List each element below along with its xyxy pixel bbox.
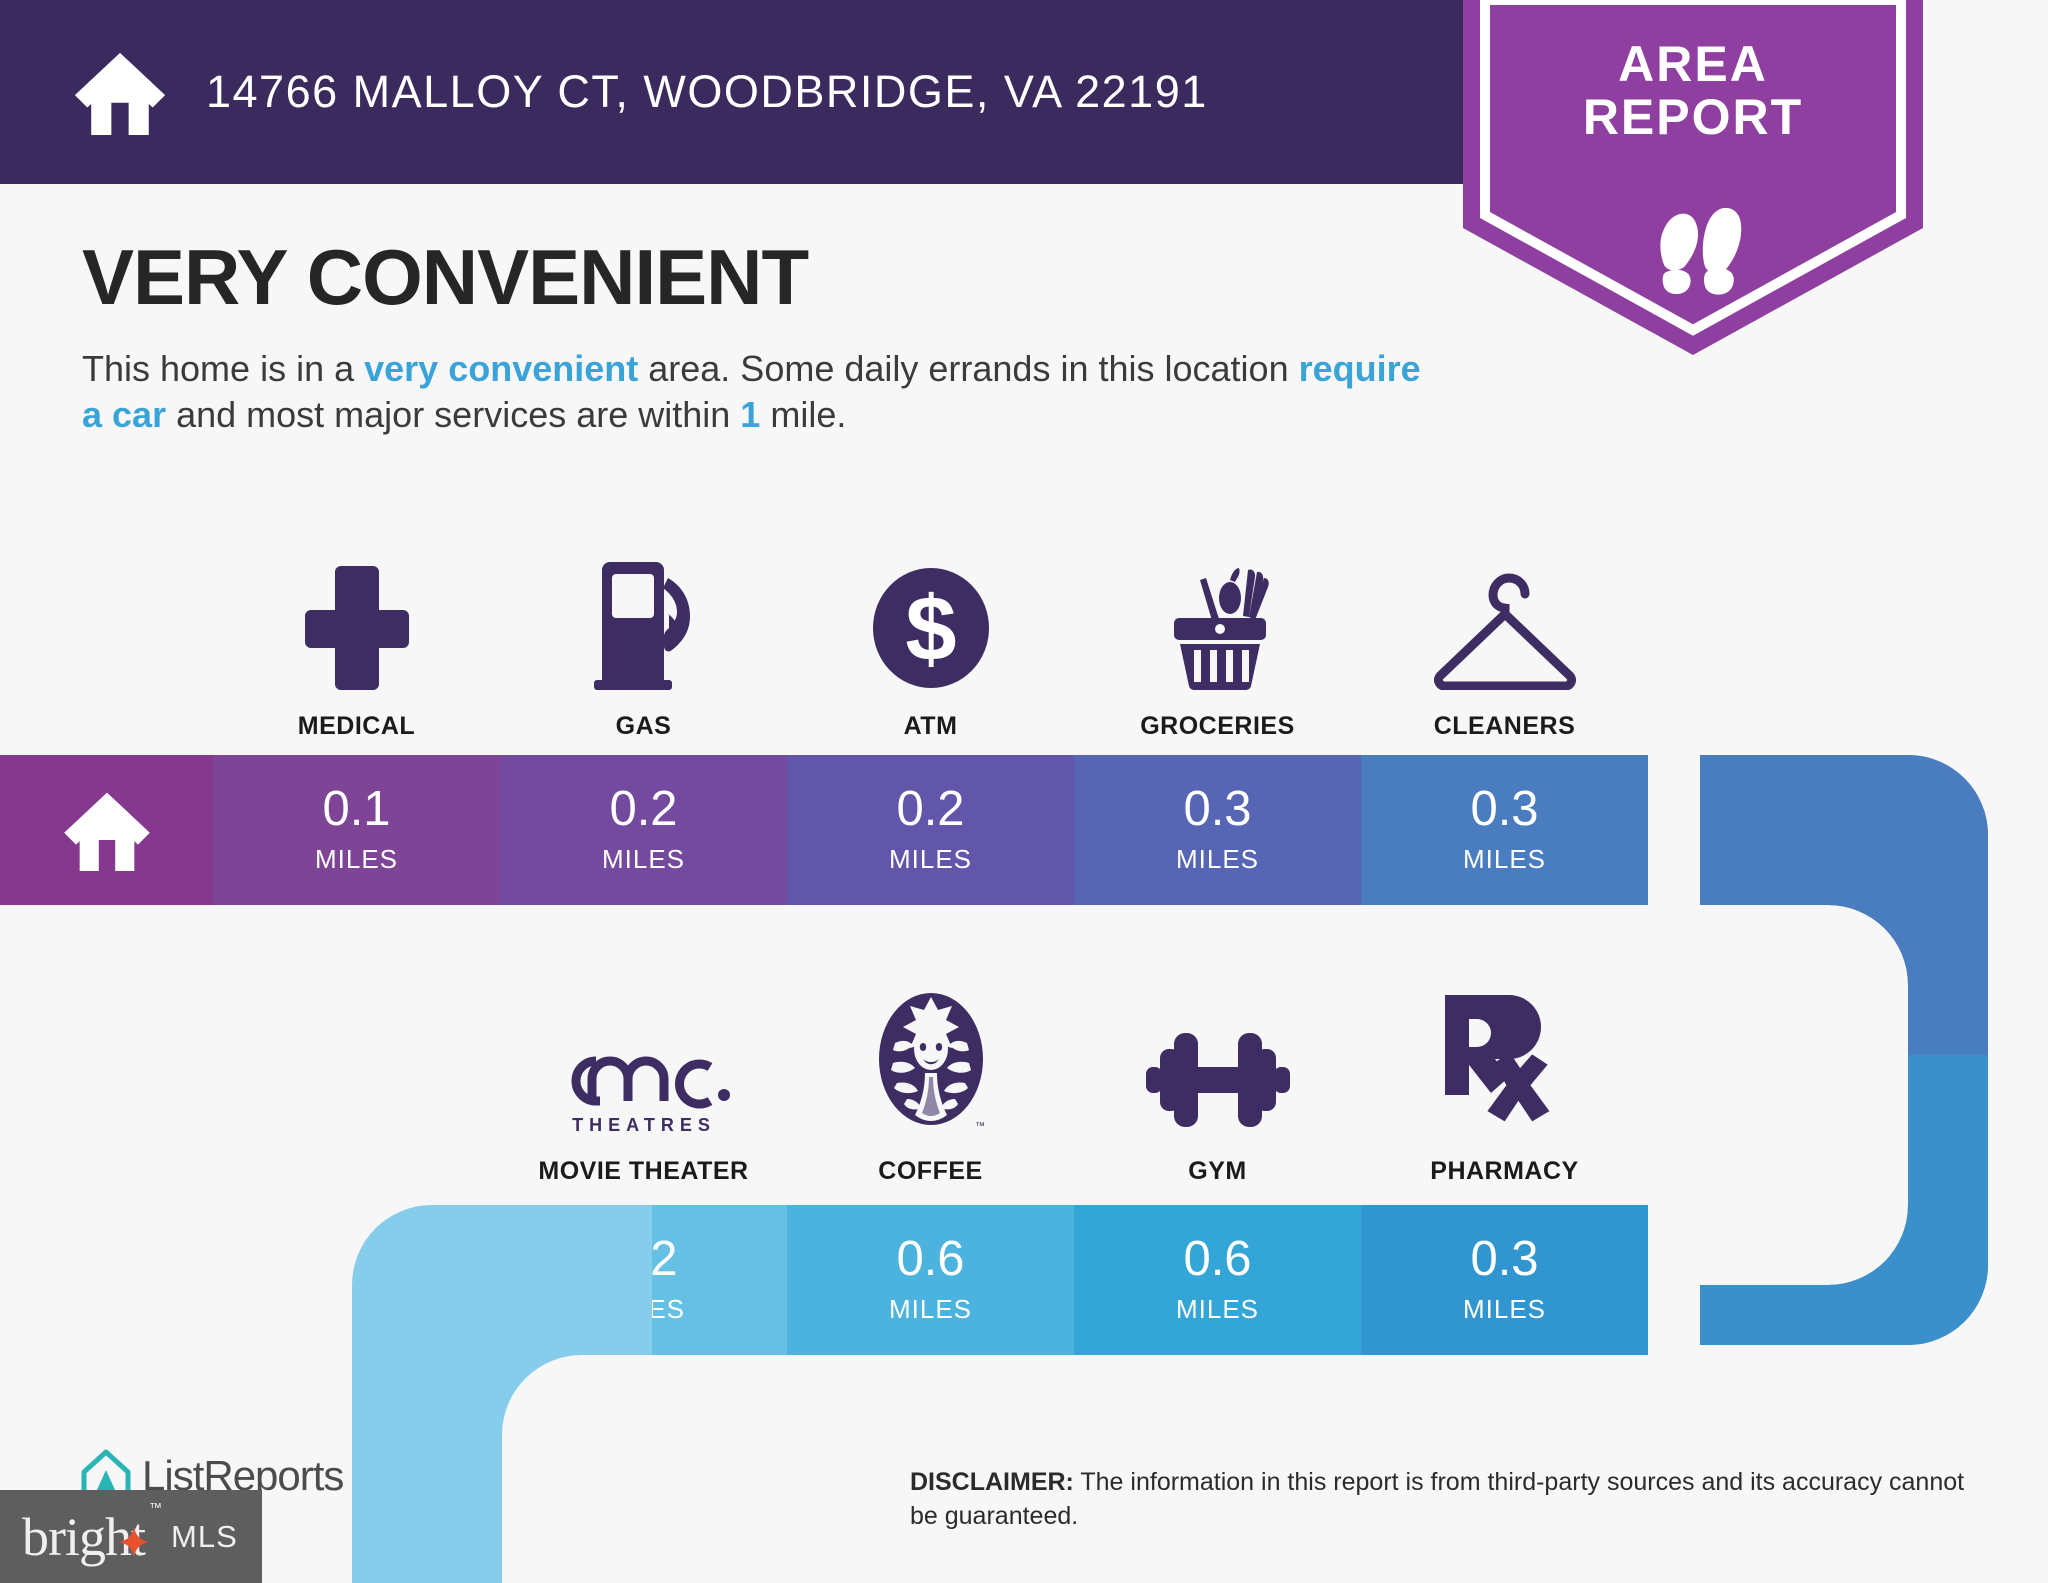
amenity-label: PHARMACY: [1361, 1157, 1648, 1186]
desc-text-4: mile.: [760, 394, 846, 435]
distance-cell-medical: 0.1 MILES: [213, 755, 500, 905]
gas-pump-icon: [500, 540, 787, 690]
bright-mls-watermark: bright ™ MLS: [0, 1490, 262, 1583]
distance-value: 0.6: [1183, 1235, 1251, 1284]
distance-value: 0.2: [896, 785, 964, 834]
amenity-medical: MEDICAL: [213, 540, 500, 741]
distance-cell-groceries: 0.3 MILES: [1074, 755, 1361, 905]
distance-value: 0.3: [1470, 1235, 1538, 1284]
area-report-badge: AREA REPORT: [1463, 0, 1923, 360]
desc-highlight-1: very convenient: [364, 348, 638, 389]
amenity-groceries: GROCERIES: [1074, 540, 1361, 741]
property-address: 14766 MALLOY CT, WOODBRIDGE, VA 22191: [206, 66, 1208, 118]
distance-value: 0.3: [1183, 785, 1251, 834]
distance-value: 0.3: [1470, 785, 1538, 834]
starbucks-icon: ™: [787, 985, 1074, 1135]
amenity-label: GYM: [1074, 1157, 1361, 1186]
distance-bar-row-2: 1.2 MILES 0.6 MILES 0.6 MILES 0.3 MILES: [500, 1205, 1648, 1355]
medical-cross-icon: [213, 540, 500, 690]
trademark-symbol: ™: [149, 1500, 161, 1515]
hero-description: This home is in a very convenient area. …: [82, 346, 1442, 438]
amenity-label: ATM: [787, 712, 1074, 741]
distance-cell-gas: 0.2 MILES: [500, 755, 787, 905]
rx-icon: [1361, 985, 1648, 1135]
path-turn-left: [352, 1205, 652, 1583]
amenity-icon-row-1: MEDICAL GAS $ ATM: [213, 540, 1648, 741]
amenity-label: GAS: [500, 712, 787, 741]
svg-text:™: ™: [975, 1121, 985, 1132]
amenity-atm: $ ATM: [787, 540, 1074, 741]
distance-cell-gym: 0.6 MILES: [1074, 1205, 1361, 1355]
desc-text-3: and most major services are within: [166, 394, 740, 435]
header-bar: 14766 MALLOY CT, WOODBRIDGE, VA 22191: [0, 0, 1493, 184]
bar-home-marker: [0, 755, 213, 905]
amenity-label: COFFEE: [787, 1157, 1074, 1186]
home-icon: [72, 49, 168, 135]
mls-suffix-text: MLS: [171, 1519, 238, 1555]
distance-value: 0.6: [896, 1235, 964, 1284]
distance-cell-atm: 0.2 MILES: [787, 755, 1074, 905]
atm-dollar-icon: $: [787, 540, 1074, 690]
page-title: VERY CONVENIENT: [82, 238, 1482, 316]
distance-unit: MILES: [1463, 844, 1546, 875]
distance-value: 0.2: [609, 785, 677, 834]
amenity-label: GROCERIES: [1074, 712, 1361, 741]
amenity-movie-theater: THEATRES MOVIE THEATER: [500, 985, 787, 1186]
hero-section: VERY CONVENIENT This home is in a very c…: [82, 238, 1482, 438]
dumbbell-icon: [1074, 985, 1361, 1135]
disclaimer: DISCLAIMER: The information in this repo…: [910, 1466, 1970, 1534]
amenity-icon-row-2: THEATRES MOVIE THEATER: [500, 985, 1648, 1186]
distance-cell-cleaners: 0.3 MILES: [1361, 755, 1648, 905]
disclaimer-label: DISCLAIMER:: [910, 1468, 1074, 1496]
desc-text-1: This home is in a: [82, 348, 364, 389]
amc-theatres-icon: THEATRES: [500, 985, 787, 1135]
distance-unit: MILES: [1176, 844, 1259, 875]
grocery-basket-icon: [1074, 540, 1361, 690]
amenity-label: MOVIE THEATER: [500, 1157, 787, 1186]
desc-text-2: area. Some daily errands in this locatio…: [638, 348, 1298, 389]
distance-unit: MILES: [315, 844, 398, 875]
amenity-gas: GAS: [500, 540, 787, 741]
amenity-label: CLEANERS: [1361, 712, 1648, 741]
distance-cell-coffee: 0.6 MILES: [787, 1205, 1074, 1355]
desc-highlight-3: 1: [740, 394, 760, 435]
mls-brand-text: bright ™: [22, 1506, 145, 1568]
svg-text:$: $: [905, 578, 956, 680]
distance-bar-row-1: 0.1 MILES 0.2 MILES 0.2 MILES 0.3 MILES …: [0, 755, 1648, 905]
distance-unit: MILES: [602, 844, 685, 875]
amenity-label: MEDICAL: [213, 712, 500, 741]
svg-text:THEATRES: THEATRES: [572, 1115, 716, 1135]
four-point-star-icon: [119, 1508, 149, 1538]
amenity-cleaners: CLEANERS: [1361, 540, 1648, 741]
amenity-pharmacy: PHARMACY: [1361, 985, 1648, 1186]
distance-unit: MILES: [1463, 1294, 1546, 1325]
clothes-hanger-icon: [1361, 540, 1648, 690]
distance-unit: MILES: [889, 844, 972, 875]
amenity-gym: GYM: [1074, 985, 1361, 1186]
distance-value: 0.1: [322, 785, 390, 834]
path-turn-right: [1700, 755, 2048, 1355]
distance-unit: MILES: [1176, 1294, 1259, 1325]
distance-unit: MILES: [889, 1294, 972, 1325]
distance-cell-pharmacy: 0.3 MILES: [1361, 1205, 1648, 1355]
amenity-coffee: ™ COFFEE: [787, 985, 1074, 1186]
